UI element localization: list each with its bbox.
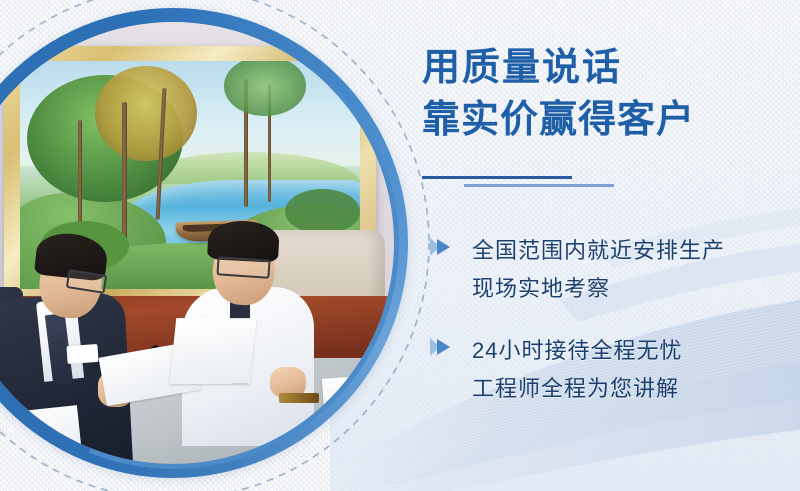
headline-line-2: 靠实价赢得客户 — [422, 94, 798, 146]
person-one-badge — [66, 344, 98, 364]
list-item: 全国范围内就近安排生产 现场实地考察 — [420, 232, 800, 308]
document-brochure — [0, 405, 83, 464]
content-column: 用质量说话 靠实价赢得客户 全国范围内就近安排生产 现场实地考察 — [420, 0, 800, 491]
headline: 用质量说话 靠实价赢得客户 — [422, 42, 798, 146]
arrow-right-icon — [428, 236, 454, 258]
divider-line-lower — [464, 184, 614, 187]
painting-tree-canopy-autumn — [95, 66, 197, 162]
list-item-label: 24小时接待全程无忧 工程师全程为您讲解 — [472, 332, 800, 408]
arrow-right-icon — [428, 336, 454, 358]
feature-list: 全国范围内就近安排生产 现场实地考察 24小时接待全程无忧 工程师全程为您讲解 — [420, 232, 800, 432]
painting-tree-canopy-right — [224, 61, 306, 116]
promo-banner: 用质量说话 靠实价赢得客户 全国范围内就近安排生产 现场实地考察 — [0, 0, 800, 491]
headline-line-1: 用质量说话 — [422, 42, 798, 94]
hero-photo — [0, 8, 408, 478]
list-item-label: 全国范围内就近安排生产 现场实地考察 — [472, 232, 800, 308]
headline-divider — [422, 176, 622, 190]
painting-tree-trunk-1 — [122, 102, 127, 252]
divider-line-upper — [422, 176, 572, 179]
list-item: 24小时接待全程无忧 工程师全程为您讲解 — [420, 332, 800, 408]
